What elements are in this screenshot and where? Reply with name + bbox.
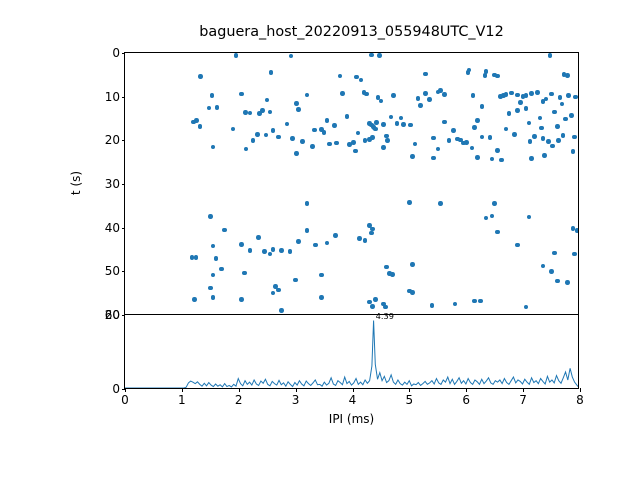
y-axis-label: t (s) xyxy=(69,171,83,195)
scatter-point xyxy=(268,252,273,257)
scatter-point xyxy=(215,105,220,110)
scatter-point xyxy=(399,116,404,121)
scatter-point xyxy=(357,236,362,241)
histogram-x-tick xyxy=(239,388,240,392)
scatter-y-tick xyxy=(122,97,126,98)
scatter-point xyxy=(279,308,284,313)
scatter-point xyxy=(191,120,196,125)
scatter-point xyxy=(558,95,563,100)
scatter-point xyxy=(364,92,369,97)
scatter-point xyxy=(256,235,261,240)
scatter-point xyxy=(214,256,219,261)
scatter-point xyxy=(239,92,244,97)
scatter-point xyxy=(407,200,412,205)
histogram-x-tick-label: 8 xyxy=(576,393,584,407)
scatter-point xyxy=(219,267,224,272)
scatter-point xyxy=(423,91,428,96)
histogram-y-tick-label: 20 xyxy=(105,308,120,322)
scatter-point xyxy=(313,243,318,248)
scatter-point xyxy=(377,53,382,58)
scatter-point xyxy=(507,111,512,116)
scatter-point xyxy=(539,126,544,131)
scatter-point xyxy=(338,74,343,79)
scatter-point xyxy=(464,140,469,145)
scatter-point xyxy=(552,110,557,115)
scatter-point xyxy=(535,90,540,95)
histogram-x-tick xyxy=(296,388,297,392)
scatter-point xyxy=(528,139,533,144)
scatter-point xyxy=(381,145,386,150)
scatter-point xyxy=(572,252,577,257)
scatter-point xyxy=(418,103,423,108)
scatter-point xyxy=(391,93,396,98)
scatter-point xyxy=(234,53,239,58)
scatter-point xyxy=(207,106,212,111)
scatter-point xyxy=(575,228,578,233)
scatter-point xyxy=(363,138,368,143)
scatter-point xyxy=(552,251,557,256)
scatter-point xyxy=(385,138,390,143)
histogram-x-tick xyxy=(580,388,581,392)
scatter-point xyxy=(512,132,517,137)
scatter-point xyxy=(231,127,236,132)
histogram-polyline xyxy=(125,320,578,388)
scatter-point xyxy=(529,91,534,96)
scatter-y-tick-label: 50 xyxy=(105,264,120,278)
scatter-point xyxy=(327,142,332,147)
histogram-x-tick-label: 6 xyxy=(462,393,470,407)
scatter-point xyxy=(529,156,534,161)
matplotlib-figure: baguera_host_20220913_055948UTC_V12 0102… xyxy=(0,0,640,480)
histogram-x-tick-label: 1 xyxy=(178,393,186,407)
scatter-point xyxy=(211,244,216,249)
scatter-point xyxy=(518,100,523,105)
scatter-point xyxy=(210,93,215,98)
scatter-point xyxy=(541,136,546,141)
scatter-point xyxy=(312,128,317,133)
scatter-point xyxy=(319,295,324,300)
scatter-point xyxy=(271,291,276,296)
scatter-point xyxy=(410,154,415,159)
scatter-point xyxy=(363,238,368,243)
scatter-y-tick-label: 10 xyxy=(105,90,120,104)
scatter-point xyxy=(276,135,281,140)
scatter-point xyxy=(453,302,458,307)
scatter-y-tick xyxy=(122,53,126,54)
scatter-point xyxy=(492,73,497,78)
scatter-y-tick xyxy=(122,271,126,272)
scatter-point xyxy=(524,106,529,111)
scatter-point xyxy=(467,68,472,73)
scatter-point xyxy=(333,233,338,238)
scatter-point xyxy=(300,139,305,144)
scatter-point xyxy=(488,135,493,140)
scatter-point xyxy=(260,108,265,113)
scatter-point xyxy=(271,247,276,252)
histogram-x-tick-label: 2 xyxy=(235,393,243,407)
scatter-point xyxy=(560,102,565,107)
scatter-point xyxy=(413,142,418,147)
scatter-point xyxy=(248,111,253,116)
scatter-point xyxy=(565,280,570,285)
scatter-point xyxy=(293,278,298,283)
scatter-point xyxy=(208,286,213,291)
scatter-point xyxy=(345,114,350,119)
scatter-point xyxy=(431,136,436,141)
scatter-point xyxy=(550,144,555,149)
scatter-y-tick-label: 0 xyxy=(112,46,120,60)
scatter-point xyxy=(451,128,456,133)
scatter-point xyxy=(319,273,324,278)
scatter-point xyxy=(438,201,443,206)
scatter-point xyxy=(290,136,295,141)
scatter-point xyxy=(351,140,356,145)
scatter-point xyxy=(524,305,529,310)
scatter-point xyxy=(470,146,475,151)
scatter-point xyxy=(374,120,379,125)
histogram-x-tick-label: 3 xyxy=(292,393,300,407)
scatter-point xyxy=(472,125,477,130)
scatter-point xyxy=(356,131,361,136)
scatter-point xyxy=(332,123,337,128)
scatter-point xyxy=(495,230,500,235)
histogram-x-tick-label: 0 xyxy=(121,393,129,407)
scatter-point xyxy=(499,158,504,163)
scatter-point xyxy=(239,242,244,247)
scatter-point xyxy=(211,295,216,300)
scatter-point xyxy=(427,97,432,102)
scatter-point xyxy=(395,121,400,126)
scatter-point xyxy=(478,299,483,304)
scatter-point xyxy=(305,201,310,206)
scatter-point xyxy=(211,273,216,278)
scatter-point xyxy=(490,157,495,162)
scatter-point xyxy=(431,156,436,161)
scatter-point xyxy=(556,138,561,143)
scatter-point xyxy=(222,228,227,233)
histogram-x-tick xyxy=(466,388,467,392)
scatter-y-tick-label: 40 xyxy=(105,221,120,235)
scatter-point xyxy=(305,93,310,98)
scatter-y-tick xyxy=(122,184,126,185)
scatter-point xyxy=(289,54,294,59)
scatter-point xyxy=(549,92,554,97)
scatter-point xyxy=(515,108,520,113)
scatter-point xyxy=(475,155,480,160)
scatter-point xyxy=(541,99,546,104)
scatter-point xyxy=(549,269,554,274)
scatter-point xyxy=(373,127,378,132)
scatter-point xyxy=(211,145,216,150)
histogram-x-tick-label: 4 xyxy=(349,393,357,407)
scatter-y-tick xyxy=(122,228,126,229)
scatter-point xyxy=(573,95,578,100)
scatter-point xyxy=(563,117,568,122)
scatter-point xyxy=(271,128,276,133)
scatter-point xyxy=(310,144,315,149)
scatter-point xyxy=(509,91,514,96)
scatter-point xyxy=(268,110,273,115)
scatter-point xyxy=(334,141,339,146)
histogram-y-tick-label: 0 xyxy=(112,382,120,396)
histogram-panel: 4.39 020 012345678 xyxy=(124,314,579,389)
scatter-point xyxy=(492,201,497,206)
scatter-point xyxy=(566,93,571,98)
histogram-y-tick xyxy=(122,315,126,316)
scatter-point xyxy=(442,92,447,97)
scatter-point xyxy=(255,132,260,137)
scatter-point xyxy=(198,74,203,79)
scatter-point xyxy=(242,271,247,276)
scatter-point xyxy=(296,239,301,244)
scatter-point xyxy=(373,297,378,302)
scatter-point xyxy=(294,151,299,156)
scatter-point xyxy=(369,53,374,57)
scatter-point xyxy=(542,153,547,158)
scatter-point xyxy=(410,290,415,295)
histogram-x-tick-label: 7 xyxy=(519,393,527,407)
scatter-point xyxy=(279,248,284,253)
scatter-point xyxy=(480,135,485,140)
scatter-point xyxy=(565,73,570,78)
scatter-point xyxy=(410,262,415,267)
scatter-point xyxy=(198,124,203,129)
scatter-point xyxy=(495,148,500,153)
scatter-point xyxy=(423,72,428,77)
scatter-point xyxy=(262,249,267,254)
histogram-x-tick-label: 5 xyxy=(406,393,414,407)
histogram-x-tick xyxy=(523,388,524,392)
scatter-point xyxy=(251,138,256,143)
scatter-point xyxy=(384,265,389,270)
scatter-point xyxy=(370,304,375,309)
scatter-point xyxy=(524,93,529,98)
scatter-point xyxy=(472,299,477,304)
scatter-point xyxy=(359,78,364,83)
scatter-point xyxy=(527,121,532,126)
scatter-point xyxy=(569,113,574,118)
scatter-point xyxy=(527,215,532,220)
scatter-point xyxy=(572,135,577,140)
scatter-point xyxy=(208,214,213,219)
scatter-point xyxy=(504,127,509,132)
scatter-point xyxy=(325,241,330,246)
scatter-point xyxy=(264,133,269,138)
scatter-point xyxy=(442,120,447,125)
scatter-point xyxy=(248,248,253,253)
histogram-x-tick xyxy=(125,388,126,392)
scatter-point xyxy=(294,101,299,106)
scatter-point xyxy=(340,91,345,96)
scatter-point xyxy=(546,139,551,144)
scatter-point xyxy=(571,149,576,154)
scatter-point xyxy=(389,115,394,120)
scatter-y-tick-label: 20 xyxy=(105,133,120,147)
scatter-point xyxy=(265,98,270,103)
scatter-y-tick-label: 30 xyxy=(105,177,120,191)
scatter-point xyxy=(447,138,452,143)
scatter-point xyxy=(408,123,413,128)
scatter-point xyxy=(383,305,388,310)
scatter-point xyxy=(484,69,489,74)
scatter-point xyxy=(430,303,435,308)
scatter-point xyxy=(504,92,509,97)
scatter-y-tick xyxy=(122,140,126,141)
scatter-point xyxy=(269,70,274,75)
peak-annotation: 4.39 xyxy=(376,311,394,321)
scatter-point xyxy=(401,122,406,127)
scatter-point xyxy=(285,122,290,127)
scatter-point xyxy=(369,231,374,236)
scatter-point xyxy=(390,272,395,277)
scatter-point xyxy=(475,118,480,123)
scatter-point xyxy=(381,122,386,127)
scatter-point xyxy=(276,288,281,293)
scatter-panel: 0102030405060 xyxy=(124,52,579,314)
scatter-point xyxy=(325,118,330,123)
scatter-point xyxy=(515,93,520,98)
scatter-point xyxy=(541,264,546,269)
scatter-point xyxy=(239,297,244,302)
scatter-point xyxy=(561,133,566,138)
scatter-point xyxy=(515,243,520,248)
scatter-point xyxy=(416,96,421,101)
histogram-x-tick xyxy=(353,388,354,392)
scatter-plot-area xyxy=(125,53,578,314)
scatter-point xyxy=(555,124,560,129)
x-axis-label: IPI (ms) xyxy=(124,412,579,426)
scatter-point xyxy=(471,93,476,98)
figure-title: baguera_host_20220913_055948UTC_V12 xyxy=(124,24,579,40)
histogram-x-tick xyxy=(182,388,183,392)
scatter-point xyxy=(538,116,543,121)
scatter-point xyxy=(484,216,489,221)
scatter-point xyxy=(296,107,301,112)
histogram-plot-area xyxy=(125,315,578,388)
scatter-point xyxy=(379,99,384,104)
scatter-point xyxy=(490,214,495,219)
scatter-point xyxy=(555,279,560,284)
histogram-x-tick xyxy=(409,388,410,392)
scatter-point xyxy=(347,142,352,147)
scatter-point xyxy=(532,134,537,139)
scatter-point xyxy=(288,249,293,254)
scatter-point xyxy=(367,137,372,142)
scatter-point xyxy=(353,149,358,154)
scatter-point xyxy=(192,297,197,302)
scatter-point xyxy=(305,228,310,233)
scatter-point xyxy=(244,147,249,152)
scatter-point xyxy=(194,255,199,260)
scatter-point xyxy=(548,53,553,58)
scatter-point xyxy=(436,147,441,152)
histogram-line xyxy=(125,315,578,388)
scatter-point xyxy=(322,130,327,135)
scatter-point xyxy=(480,104,485,109)
